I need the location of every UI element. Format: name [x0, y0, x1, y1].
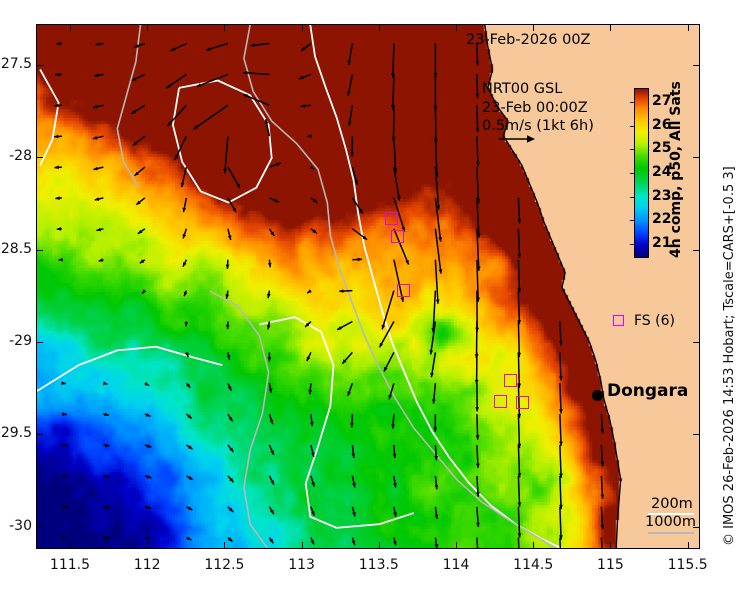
current-vector-arrow [62, 474, 68, 478]
current-vector-arrow [559, 507, 563, 540]
current-vector-arrow [185, 322, 189, 327]
current-vector-arrow [429, 322, 435, 355]
current-vector-arrow [348, 105, 353, 126]
colorbar [634, 88, 649, 258]
current-vector-arrow [307, 352, 311, 361]
x-axis-label: 113.5 [344, 557, 414, 573]
bathymetry-contour-1000m [117, 25, 140, 188]
current-vector-arrow [228, 476, 234, 482]
current-vector-arrow [55, 196, 62, 200]
current-vector-arrow [228, 383, 232, 390]
current-vector-arrow [518, 229, 522, 258]
current-vector-arrow [145, 382, 150, 386]
current-vector-arrow [228, 445, 234, 452]
x-axis-tick [224, 542, 225, 549]
current-vector-arrow [559, 383, 563, 413]
current-vector-arrow [93, 105, 103, 109]
fs-station-marker[interactable] [516, 396, 529, 409]
bathymetry-contour-1000m [210, 291, 269, 549]
current-vector-arrow [170, 44, 186, 52]
current-vector-arrow [434, 74, 438, 110]
y-axis-label: -29 [0, 333, 32, 349]
y-axis-tick [36, 342, 43, 343]
current-vector-arrow [393, 507, 397, 517]
y-axis-tick [693, 527, 700, 528]
current-vector-arrow [269, 229, 274, 236]
current-vector-arrow [269, 383, 273, 393]
current-vector-arrow [352, 538, 356, 546]
current-vector-arrow [228, 167, 240, 188]
current-vector-arrow [518, 538, 522, 549]
current-vector-arrow [308, 383, 312, 394]
current-vector-arrow [186, 506, 192, 510]
current-vector-arrow [168, 105, 187, 126]
current-vector-arrow [57, 42, 62, 46]
current-vector-arrow [476, 136, 480, 166]
current-vector-arrow [183, 260, 187, 267]
right-arrow-icon [497, 132, 537, 146]
x-axis-tick [70, 24, 71, 31]
current-vector-arrow [391, 44, 395, 78]
fs-station-marker[interactable] [504, 374, 517, 387]
current-vector-arrow [435, 507, 439, 519]
current-vector-arrow [311, 229, 317, 234]
current-vector-arrow [94, 74, 103, 78]
current-vector-arrow [228, 537, 233, 541]
current-vector-arrow [301, 104, 311, 108]
y-axis-tick [36, 527, 43, 528]
current-vector-arrow [269, 198, 279, 202]
current-vector-arrow [95, 197, 104, 201]
current-vector-arrow [601, 538, 605, 549]
current-vector-arrow [197, 74, 228, 86]
filled-circle-icon [592, 390, 603, 401]
x-axis-tick [610, 542, 611, 549]
current-vector-arrow [93, 167, 103, 171]
current-vector-arrow [476, 105, 480, 132]
x-axis-tick [302, 24, 303, 31]
timestamp-label: 23-Feb-2026 00Z [466, 32, 590, 48]
bathymetry-contour-200m [259, 317, 413, 528]
y-axis-label: -30 [0, 518, 32, 534]
current-vector-arrow [267, 291, 271, 299]
current-vector-arrow [352, 476, 356, 488]
current-vector-arrow [269, 445, 273, 455]
current-vector-arrow [348, 383, 353, 396]
x-axis-label: 111.5 [35, 557, 105, 573]
current-vector-arrow [393, 538, 397, 546]
current-vector-arrow [103, 381, 108, 385]
current-vector-arrow [166, 74, 186, 88]
current-vector-arrow [476, 445, 480, 468]
current-vector-arrow [518, 260, 522, 293]
x-axis-tick [147, 24, 148, 31]
current-vector-arrow [228, 414, 233, 421]
current-vector-arrow [62, 443, 68, 447]
current-vector-arrow [132, 74, 145, 80]
x-axis-tick [456, 542, 457, 549]
current-vector-arrow [339, 289, 352, 293]
x-axis-tick [224, 24, 225, 31]
current-vector-arrow [348, 44, 353, 66]
current-vector-arrow [183, 198, 187, 212]
current-vectors-and-contours [37, 25, 700, 549]
current-vector-arrow [268, 352, 272, 361]
current-vector-arrow [62, 536, 67, 540]
current-vector-arrow [559, 352, 563, 380]
current-vector-arrow [206, 44, 228, 51]
current-vector-arrow [226, 322, 230, 330]
bathymetry-contour-200m [40, 69, 59, 165]
current-vector-arrow [103, 474, 109, 478]
current-vector-arrow [311, 198, 318, 203]
current-vector-arrow [62, 412, 67, 416]
current-vector-arrow [145, 413, 151, 417]
colorbar-tick-label: 26 [652, 117, 671, 133]
y-axis-tick [693, 250, 700, 251]
current-vector-arrow [601, 476, 605, 499]
colorbar-tick-label: 22 [652, 211, 671, 227]
current-vector-arrow [194, 105, 228, 129]
fs-legend-marker-icon [613, 315, 624, 326]
current-vector-arrow [142, 289, 146, 293]
current-vector-arrow [518, 507, 522, 538]
y-axis-label: -28.5 [0, 241, 32, 257]
x-axis-tick [533, 542, 534, 549]
current-vector-arrow [136, 198, 145, 205]
current-vector-arrow [311, 507, 315, 516]
current-vector-arrow [384, 352, 394, 371]
y-axis-tick [36, 157, 43, 158]
figure-root: 23-Feb-2026 00Z NRT00 GSL 23-Feb 00:00Z … [0, 0, 740, 592]
x-axis-tick [533, 24, 534, 31]
current-vector-arrow [269, 414, 273, 424]
current-vector-arrow [103, 444, 109, 448]
current-vector-arrow [601, 445, 605, 466]
x-axis-tick [688, 542, 689, 549]
current-vector-arrow [559, 414, 563, 446]
current-vector-arrow [226, 260, 230, 269]
contour-200m-label: 200m [651, 496, 693, 512]
current-vector-arrow [134, 44, 145, 48]
current-vector-arrow [181, 167, 187, 187]
current-vector-arrow [145, 444, 152, 448]
current-vector-arrow [145, 506, 151, 510]
current-vector-arrow [342, 352, 352, 363]
x-axis-tick [379, 542, 380, 549]
current-vector-arrow [518, 198, 522, 223]
y-axis-tick [36, 434, 43, 435]
contour-1000m-label: 1000m [645, 514, 696, 530]
current-vector-arrow [394, 167, 401, 201]
y-axis-label: -29.5 [0, 425, 32, 441]
x-axis-tick [379, 24, 380, 31]
current-vector-arrow [311, 445, 315, 457]
current-vector-arrow [269, 163, 280, 167]
current-vector-arrow [430, 352, 435, 377]
current-vector-arrow [434, 44, 438, 78]
fs-station-marker[interactable] [385, 212, 398, 225]
y-axis-tick [36, 250, 43, 251]
current-vector-arrow [517, 352, 521, 388]
colorbar-tick [630, 126, 634, 127]
colorbar-tick-label: 25 [652, 140, 671, 156]
current-vector-arrow [476, 507, 480, 527]
current-vector-arrow [145, 475, 152, 479]
current-vector-arrow [310, 165, 315, 169]
current-vector-arrow [228, 507, 233, 512]
current-vector-arrow [310, 414, 314, 426]
current-vector-arrow [517, 291, 521, 325]
current-vector-arrow [62, 505, 67, 509]
current-vector-arrow [138, 229, 145, 234]
colorbar-tick [630, 244, 634, 245]
y-axis-tick [693, 342, 700, 343]
current-vector-arrow [518, 414, 522, 448]
current-vector-arrow [435, 260, 439, 304]
current-vector-arrow [350, 136, 354, 156]
current-vector-arrow [337, 322, 352, 330]
current-vector-arrow [393, 445, 397, 458]
current-vector-arrow [476, 538, 480, 549]
x-axis-label: 114.5 [498, 557, 568, 573]
current-vector-arrow [186, 537, 191, 540]
current-vector-arrow [225, 291, 229, 299]
current-vector-arrow [103, 536, 108, 540]
colorbar-tick-label: 21 [652, 235, 671, 251]
current-vector-arrow [433, 414, 437, 432]
current-vector-arrow [131, 105, 145, 114]
current-vector-arrow [186, 476, 192, 480]
current-vector-arrow [476, 476, 480, 497]
colorbar-tick [630, 102, 634, 103]
current-vector-arrow [228, 229, 232, 240]
bathymetry-contour-200m [37, 347, 222, 391]
colorbar-tick [630, 149, 634, 150]
current-vector-arrow [140, 259, 145, 263]
current-vector-arrow [518, 476, 522, 507]
current-vector-arrow [352, 445, 356, 458]
fs-legend-label: FS (6) [634, 313, 675, 329]
current-vector-arrow [184, 291, 188, 297]
current-vector-arrow [269, 476, 274, 485]
current-vector-arrow [476, 414, 480, 440]
current-vector-arrow [391, 414, 395, 428]
current-vector-arrow [435, 538, 439, 549]
current-vector-arrow [311, 538, 315, 545]
product-line-1: NRT00 GSL [482, 80, 594, 99]
current-vector-arrow [559, 445, 563, 478]
current-vector-arrow [54, 165, 62, 169]
current-vector-arrow [352, 258, 362, 262]
current-vector-arrow [59, 258, 63, 262]
fs-station-marker[interactable] [391, 230, 404, 243]
current-vector-arrow [311, 476, 315, 487]
current-vector-arrow [393, 476, 397, 488]
x-axis-label: 113 [267, 557, 337, 573]
x-axis-tick [302, 542, 303, 549]
current-vector-arrow [250, 43, 269, 47]
current-vector-arrow [133, 136, 145, 146]
colorbar-tick [630, 220, 634, 221]
x-axis-tick [147, 542, 148, 549]
current-vector-arrow [559, 322, 563, 346]
current-vector-arrow [223, 136, 228, 173]
current-vector-arrow [54, 104, 62, 108]
current-vector-arrow [352, 507, 356, 517]
current-vector-arrow [432, 383, 436, 403]
current-vector-arrow [299, 74, 311, 79]
y-axis-label: -28 [0, 148, 32, 164]
colorbar-gradient [635, 89, 648, 257]
product-line-2: 23-Feb 00:00Z [482, 99, 594, 118]
current-vector-arrow [57, 227, 62, 231]
colorbar-tick [630, 197, 634, 198]
y-axis-label: -27.5 [0, 56, 32, 72]
current-vector-arrow [301, 44, 311, 52]
fs-station-marker[interactable] [397, 284, 410, 297]
current-vector-arrow [347, 74, 352, 95]
x-axis-tick [610, 24, 611, 31]
x-axis-label: 112.5 [189, 557, 259, 573]
current-vector-arrow [97, 228, 104, 232]
current-vector-arrow [350, 414, 354, 427]
current-vector-arrow [93, 136, 104, 140]
current-vector-arrow [186, 445, 192, 449]
colorbar-tick-label: 27 [652, 93, 671, 109]
x-axis-label: 112 [112, 557, 182, 573]
credit-text: © IMOS 26-Feb-2026 14:53 Hobart; Tscale=… [722, 166, 738, 546]
place-label-dongara: Dongara [607, 381, 688, 401]
current-vector-arrow [227, 352, 231, 359]
current-vector-arrow [243, 71, 269, 75]
current-vector-arrow [391, 74, 395, 109]
current-vector-arrow [392, 105, 396, 141]
current-vector-arrow [61, 381, 65, 385]
x-axis-tick [688, 24, 689, 31]
current-vector-arrow [145, 536, 150, 540]
x-axis-label: 114 [421, 557, 491, 573]
current-vector-arrow [435, 476, 439, 489]
current-vector-arrow [183, 229, 187, 239]
colorbar-tick [630, 173, 634, 174]
current-vector-arrow [103, 505, 109, 509]
colorbar-tick-label: 24 [652, 164, 671, 180]
y-axis-tick [36, 65, 43, 66]
current-vector-arrow [269, 507, 273, 514]
x-axis-label: 115 [575, 557, 645, 573]
map-plot-area[interactable] [36, 24, 700, 549]
current-vector-arrow [518, 445, 522, 477]
current-vector-arrow [55, 73, 62, 77]
current-vector-arrow [475, 383, 479, 411]
y-axis-tick [693, 157, 700, 158]
x-axis-tick [456, 24, 457, 31]
current-vector-arrow [186, 414, 191, 419]
current-vector-arrow [352, 229, 367, 240]
current-vector-arrow [600, 414, 604, 433]
x-axis-label: 115.5 [653, 557, 723, 573]
current-vector-arrow [559, 476, 563, 509]
current-vector-arrow [186, 383, 190, 388]
y-axis-tick [693, 65, 700, 66]
current-vector-arrow [103, 413, 109, 417]
current-vector-arrow [307, 134, 311, 138]
current-vector-arrow [135, 167, 145, 176]
current-vector-arrow [601, 507, 605, 529]
current-vector-arrow [307, 289, 312, 293]
product-info-block: NRT00 GSL 23-Feb 00:00Z 0.5m/s (1kt 6h) [482, 80, 594, 136]
colorbar-tick-label: 23 [652, 188, 671, 204]
current-vector-arrow [96, 42, 104, 46]
x-axis-tick [70, 542, 71, 549]
fs-station-marker[interactable] [494, 395, 507, 408]
current-vector-arrow [517, 322, 521, 358]
current-vector-arrow [476, 74, 480, 98]
y-axis-tick [693, 434, 700, 435]
current-vector-arrow [99, 258, 104, 262]
current-vector-arrow [54, 135, 62, 139]
current-vector-arrow [269, 538, 273, 544]
current-vector-arrow [268, 260, 272, 268]
current-vector-arrow [475, 352, 479, 384]
contour-1000m-swatch [648, 532, 694, 534]
